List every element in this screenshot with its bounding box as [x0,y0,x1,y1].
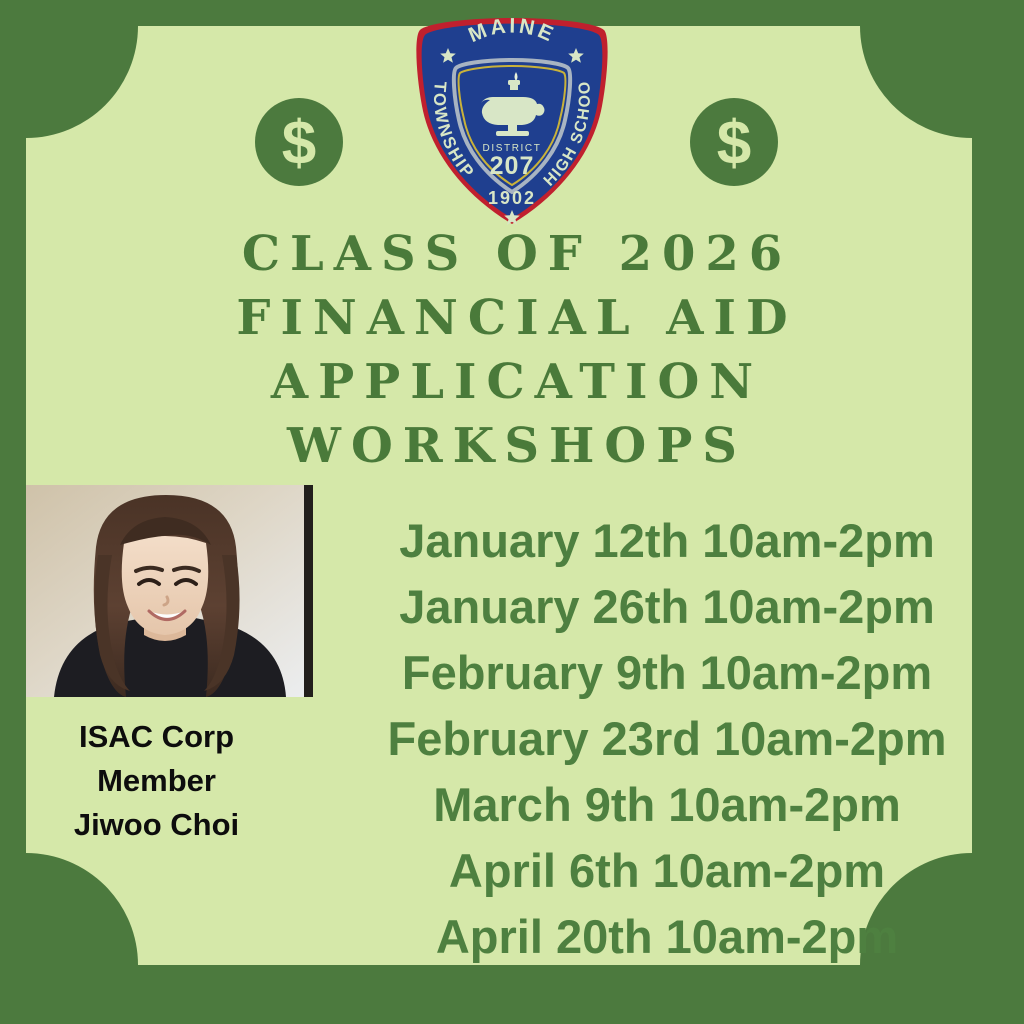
corner-notch-top-right [860,26,972,138]
flyer-headline: CLASS OF 2026 FINANCIAL AID APPLICATION … [0,222,1024,478]
corner-notch-bottom-left [26,853,138,965]
dollar-circle-icon-right: $ [690,98,778,186]
crest-district-number: 207 [490,152,535,180]
schedule-entry: January 12th 10am-2pm [330,508,1004,574]
schedule-entry: March 9th 10am-2pm [330,772,1004,838]
dollar-circle-icon-left: $ [255,98,343,186]
schedule-entry: February 23rd 10am-2pm [330,706,1004,772]
corner-notch-top-left [26,26,138,138]
caption-line-1: ISAC Corp [0,715,313,759]
headline-line-1: CLASS OF 2026 [0,222,1024,286]
crest-year: 1902 [488,188,536,208]
caption-line-3: Jiwoo Choi [0,803,313,847]
financial-aid-workshop-flyer: DISTRICT 207 MAINE TOWNSHIP HIGH SCHOOL … [0,0,1024,1024]
workshop-schedule-list: January 12th 10am-2pm January 26th 10am-… [330,508,1004,970]
headline-line-2: FINANCIAL AID [0,286,1024,350]
svg-text:$: $ [282,109,316,178]
presenter-photo-block: ISAC Corp Member Jiwoo Choi [0,485,313,847]
headline-line-4: WORKSHOPS [0,414,1024,478]
caption-line-2: Member [0,759,313,803]
presenter-caption: ISAC Corp Member Jiwoo Choi [0,715,313,847]
schedule-entry: January 26th 10am-2pm [330,574,1004,640]
schedule-entry: April 6th 10am-2pm [330,838,1004,904]
presenter-photo [26,485,313,697]
schedule-entry: February 9th 10am-2pm [330,640,1004,706]
schedule-entry: April 20th 10am-2pm [330,904,1004,970]
crest-svg: DISTRICT 207 MAINE TOWNSHIP HIGH SCHOOL … [412,14,612,228]
school-crest: DISTRICT 207 MAINE TOWNSHIP HIGH SCHOOL … [412,14,612,228]
headline-line-3: APPLICATION [0,350,1024,414]
svg-text:$: $ [717,109,751,178]
photo-right-edge-strip [304,485,313,697]
